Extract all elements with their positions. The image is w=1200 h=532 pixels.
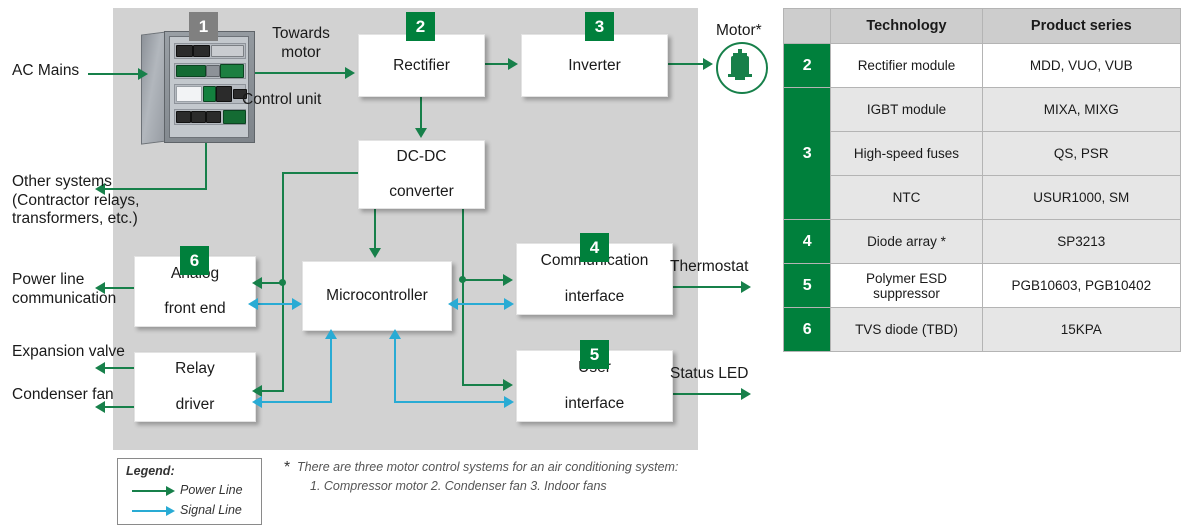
table-cell-product: USUR1000, SM: [982, 176, 1180, 220]
table-row: 3 IGBT module MIXA, MIXG: [784, 88, 1181, 132]
footnote: * There are three motor control systems …: [284, 458, 714, 496]
motor-label: Motor*: [716, 22, 762, 41]
table-header-num: [784, 9, 831, 44]
edge-condenser-fan: [105, 406, 135, 408]
edge-analog-micro-signal: [254, 303, 296, 305]
label-other-systems: Other systems (Contractor relays, transf…: [12, 173, 139, 229]
table-cell-num: 6: [784, 308, 831, 352]
edge-user-power-h: [462, 384, 504, 386]
edge-user-signal-h: [394, 401, 510, 403]
arrow-analog-signal-right: [292, 298, 302, 310]
table-cell-product: MDD, VUO, VUB: [982, 44, 1180, 88]
arrow-expansion-valve: [95, 362, 105, 374]
table-header-row: Technology Product series: [784, 9, 1181, 44]
table-cell-num: 4: [784, 220, 831, 264]
arrow-analog-power: [252, 277, 262, 289]
edge-user-signal-v: [394, 329, 396, 403]
relay-line2: driver: [171, 396, 219, 414]
motor-icon: [716, 42, 768, 94]
badge-5: 5: [580, 340, 609, 369]
footnote-line-2: 1. Compressor motor 2. Condenser fan 3. …: [284, 477, 714, 496]
badge-2: 2: [406, 12, 435, 41]
label-condenser-fan: Condenser fan: [12, 386, 114, 405]
other-systems-l3: transformers, etc.): [12, 210, 138, 227]
edge-other-systems-v: [205, 140, 207, 190]
footnote-line-1: There are three motor control systems fo…: [284, 458, 714, 477]
edge-relay-signal-h: [262, 401, 332, 403]
arrow-inv-motor: [703, 58, 713, 70]
badge-4: 4: [580, 233, 609, 262]
block-microcontroller[interactable]: Microcontroller: [302, 261, 452, 331]
legend-power-arrow: [166, 486, 175, 496]
table-cell-num: 3: [784, 88, 831, 220]
other-systems-l1: Other systems: [12, 173, 112, 190]
table-cell-num: 5: [784, 264, 831, 308]
towards-motor-l1: Towards: [272, 25, 330, 42]
table-row: NTC USUR1000, SM: [784, 176, 1181, 220]
table-row: 4 Diode array * SP3213: [784, 220, 1181, 264]
edge-relay-power-h: [262, 390, 284, 392]
edge-thermostat: [671, 286, 743, 288]
table-cell-technology: Rectifier module: [831, 44, 982, 88]
table-cell-technology-l2: suppressor: [873, 286, 940, 301]
block-dc-dc-converter-label: DC-DC converter: [381, 148, 462, 201]
table-cell-technology-l1: Polymer ESD: [866, 271, 947, 286]
legend-signal-arrow: [166, 506, 175, 516]
arrow-user-power: [503, 379, 513, 391]
edge-dcdc-right-v: [462, 207, 464, 385]
edge-towards-motor: [252, 72, 345, 74]
plc-l1: Power line: [12, 271, 84, 288]
table-cell-product: QS, PSR: [982, 132, 1180, 176]
user-line2: interface: [561, 395, 628, 413]
block-microcontroller-label: Microcontroller: [322, 287, 432, 305]
dcdc-line2: converter: [385, 183, 458, 201]
table-header-technology: Technology: [831, 9, 982, 44]
table-row: 6 TVS diode (TBD) 15KPA: [784, 308, 1181, 352]
table-cell-technology: IGBT module: [831, 88, 982, 132]
table-cell-technology: Polymer ESD suppressor: [831, 264, 982, 308]
edge-dcdc-left-h: [282, 172, 360, 174]
table-cell-product: 15KPA: [982, 308, 1180, 352]
legend-item-signal-line: Signal Line: [180, 503, 242, 517]
edge-expansion-valve: [105, 367, 135, 369]
cabinet-interior: [169, 36, 249, 138]
block-dc-dc-converter[interactable]: DC-DC converter: [358, 140, 485, 209]
label-ac-mains: AC Mains: [12, 62, 79, 81]
label-towards-motor: Towards motor: [265, 25, 337, 62]
arrow-status-led: [741, 388, 751, 400]
relay-line1: Relay: [171, 360, 219, 378]
label-expansion-valve: Expansion valve: [12, 343, 125, 362]
arrow-comm-power: [503, 274, 513, 286]
edge-comm-power-h: [462, 279, 504, 281]
arrow-towards-motor: [345, 67, 355, 79]
block-inverter[interactable]: Inverter: [521, 34, 668, 97]
block-inverter-label: Inverter: [564, 57, 625, 75]
badge-1: 1: [189, 12, 218, 41]
label-power-line-comm: Power line communication: [12, 271, 116, 308]
control-unit-image: [141, 27, 254, 145]
legend-power-line-sample: [132, 490, 168, 492]
table-row: 2 Rectifier module MDD, VUO, VUB: [784, 44, 1181, 88]
arrow-ac-mains: [138, 68, 148, 80]
table-cell-product: SP3213: [982, 220, 1180, 264]
edge-ac-mains: [88, 73, 140, 75]
arrow-comm-signal-left: [448, 298, 458, 310]
legend: Legend: Power Line Signal Line: [117, 458, 262, 525]
legend-signal-line-sample: [132, 510, 168, 512]
table-cell-technology: High-speed fuses: [831, 132, 982, 176]
edge-inv-motor: [666, 63, 706, 65]
arrow-dcdc-micro: [369, 248, 381, 258]
arrow-micro-from-relay: [325, 329, 337, 339]
junction-comm: [459, 276, 466, 283]
legend-title: Legend:: [126, 464, 175, 478]
arrow-relay-signal: [252, 396, 262, 408]
edge-relay-signal-v: [330, 329, 332, 403]
analog-line2: front end: [160, 300, 229, 318]
arrow-comm-signal-right: [504, 298, 514, 310]
block-rectifier-label: Rectifier: [389, 57, 454, 75]
table-header-product: Product series: [982, 9, 1180, 44]
arrow-thermostat: [741, 281, 751, 293]
table-cell-num: 2: [784, 44, 831, 88]
badge-3: 3: [585, 12, 614, 41]
arrow-analog-signal-left: [248, 298, 258, 310]
technology-table: Technology Product series 2 Rectifier mo…: [783, 8, 1181, 352]
table-cell-technology: Diode array *: [831, 220, 982, 264]
legend-item-power-line: Power Line: [180, 483, 243, 497]
arrow-rect-inv: [508, 58, 518, 70]
table-cell-product: MIXA, MIXG: [982, 88, 1180, 132]
badge-6: 6: [180, 246, 209, 275]
other-systems-l2: (Contractor relays,: [12, 192, 139, 209]
comm-line2: interface: [537, 288, 653, 306]
footnote-marker: *: [284, 456, 290, 480]
control-unit-label: Control unit: [242, 91, 321, 110]
dcdc-line1: DC-DC: [385, 148, 458, 166]
arrow-user-signal: [504, 396, 514, 408]
edge-dcdc-micro: [374, 207, 376, 249]
edge-rect-inv: [483, 63, 511, 65]
label-thermostat: Thermostat: [670, 258, 748, 277]
edge-micro-comm-signal: [456, 303, 510, 305]
plc-l2: communication: [12, 290, 116, 307]
table-cell-technology: TVS diode (TBD): [831, 308, 982, 352]
towards-motor-l2: motor: [281, 44, 321, 61]
block-rectifier[interactable]: Rectifier: [358, 34, 485, 97]
arrow-micro-from-user: [389, 329, 401, 339]
block-relay-driver[interactable]: Relay driver: [134, 352, 256, 422]
edge-rect-dcdc: [420, 95, 422, 129]
table-row: High-speed fuses QS, PSR: [784, 132, 1181, 176]
table-cell-technology: NTC: [831, 176, 982, 220]
table-row: 5 Polymer ESD suppressor PGB10603, PGB10…: [784, 264, 1181, 308]
block-relay-driver-label: Relay driver: [167, 360, 223, 413]
arrow-rect-dcdc: [415, 128, 427, 138]
junction-analog: [279, 279, 286, 286]
edge-status-led: [671, 393, 743, 395]
label-status-led: Status LED: [670, 365, 748, 384]
table-cell-product: PGB10603, PGB10402: [982, 264, 1180, 308]
